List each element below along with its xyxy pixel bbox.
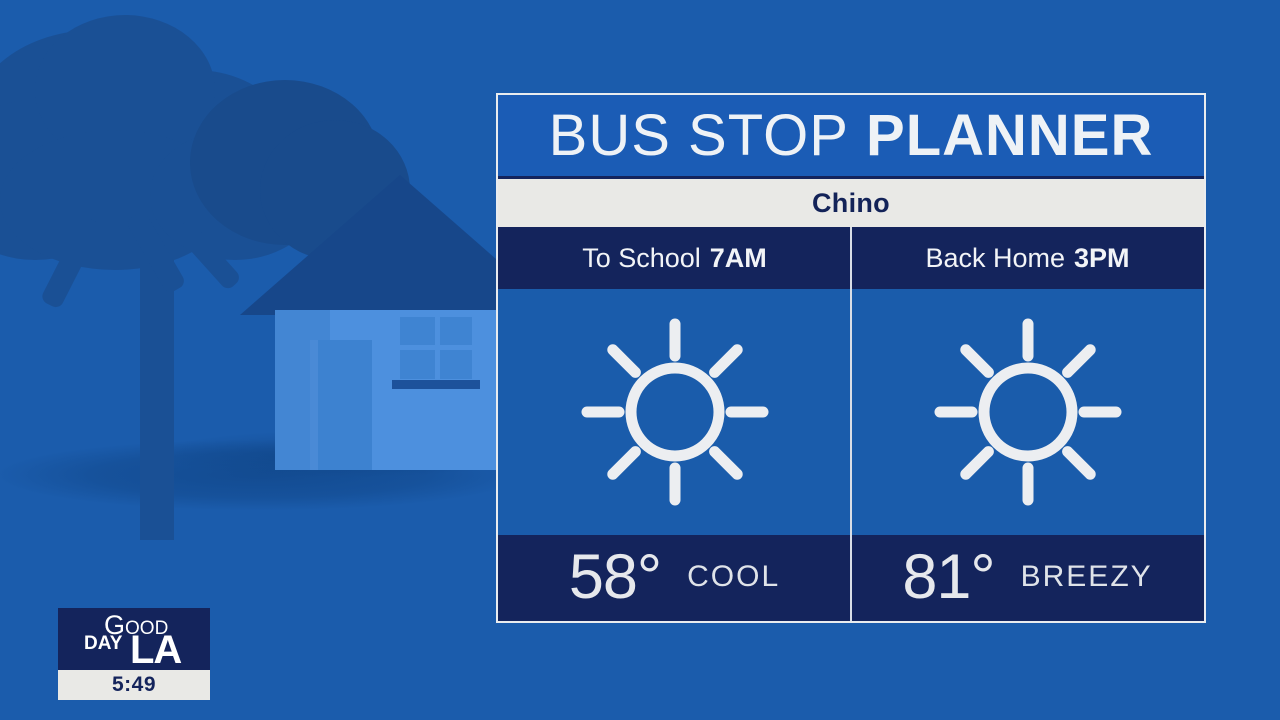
bus-stop-planner-panel: BUS STOP PLANNER Chino To School 7AM Bac…	[496, 93, 1206, 623]
icon-cell-to-school	[498, 289, 851, 535]
city-name: Chino	[812, 188, 890, 219]
column-divider	[850, 227, 852, 621]
temp-cell-to-school: 58° COOL	[498, 535, 851, 619]
page-title: BUS STOP PLANNER	[549, 107, 1154, 165]
house-illustration	[240, 175, 540, 465]
station-logo: GOOD DAY LA 5:49	[58, 608, 210, 700]
good-day-la-logo: GOOD DAY LA	[58, 608, 210, 670]
window-mullion-horizontal	[400, 345, 472, 350]
temp-cell-back-home: 81° BREEZY	[851, 535, 1204, 619]
city-band: Chino	[498, 179, 1204, 227]
column-label-back-home: Back Home	[925, 243, 1065, 274]
window-sill	[392, 380, 480, 389]
clock-time: 5:49	[112, 673, 156, 697]
broadcast-weather-graphic: BUS STOP PLANNER Chino To School 7AM Bac…	[0, 0, 1280, 720]
column-time-back-home: 3PM	[1074, 243, 1130, 274]
column-time-to-school: 7AM	[710, 243, 767, 274]
temperature-back-home: 81°	[902, 546, 994, 609]
condition-back-home: BREEZY	[1021, 560, 1153, 594]
column-header-to-school: To School 7AM	[498, 227, 851, 289]
clock-bar: 5:49	[58, 670, 210, 700]
logo-word-la: LA	[130, 630, 181, 670]
sun-icon	[928, 312, 1128, 512]
sun-icon	[575, 312, 775, 512]
panel-title-bar: BUS STOP PLANNER	[498, 95, 1204, 179]
house-door	[310, 340, 372, 470]
icon-cell-back-home	[851, 289, 1204, 535]
house-door-edge	[310, 340, 318, 470]
column-label-to-school: To School	[582, 243, 701, 274]
title-primary: BUS STOP	[549, 103, 849, 168]
condition-to-school: COOL	[687, 560, 780, 594]
logo-word-day: DAY	[84, 634, 122, 653]
temperature-to-school: 58°	[569, 546, 661, 609]
column-header-back-home: Back Home 3PM	[851, 227, 1204, 289]
title-secondary: PLANNER	[866, 103, 1153, 168]
